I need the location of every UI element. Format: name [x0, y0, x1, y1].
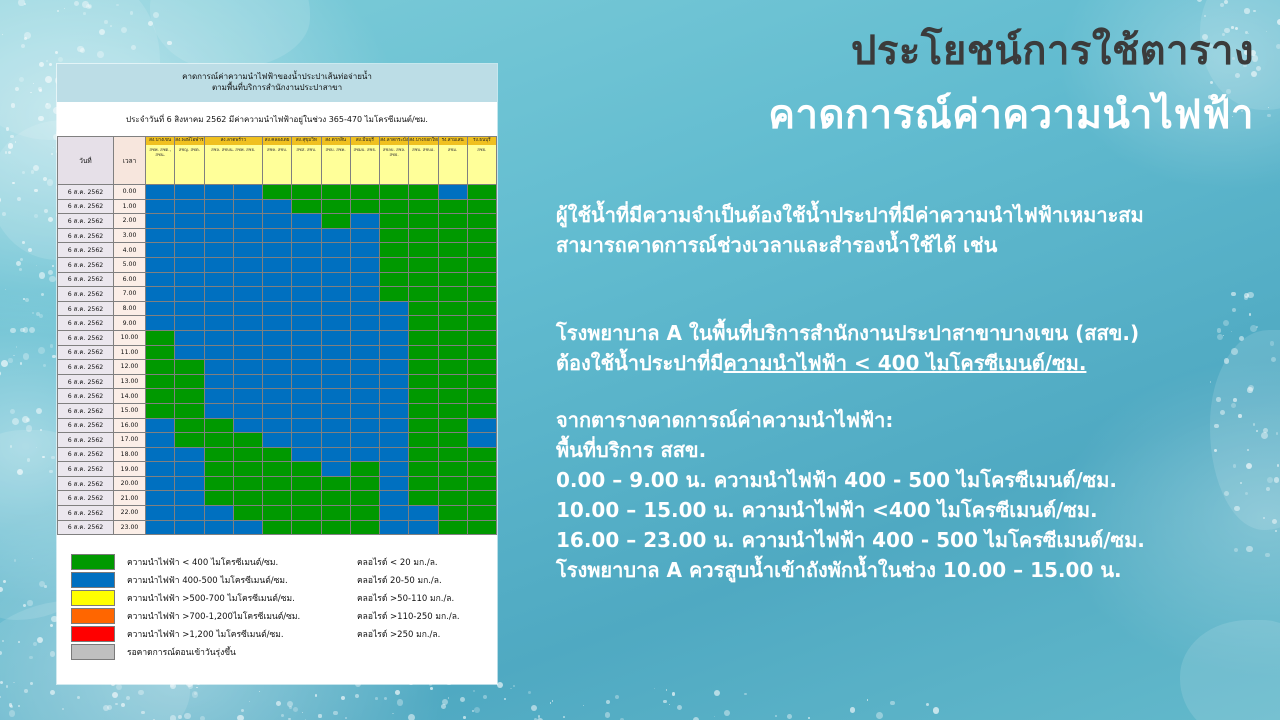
- cell-date: 6 ส.ค. 2562: [58, 330, 114, 345]
- speckle-dot: [50, 624, 53, 627]
- cell-time: 20.00: [114, 476, 146, 491]
- speckle-dot: [46, 60, 47, 61]
- cell-status-r8-c3: [233, 301, 262, 316]
- cell-status-r18-c1: [175, 447, 204, 462]
- speckle-dot: [88, 5, 92, 9]
- cell-status-r8-c0: [146, 301, 175, 316]
- cell-status-r9-c0: [146, 316, 175, 331]
- cell-status-r6-c1: [175, 272, 204, 287]
- speckle-dot: [29, 656, 32, 659]
- cell-status-r21-c10: [438, 491, 467, 506]
- cell-status-r9-c1: [175, 316, 204, 331]
- speckle-dot: [50, 344, 54, 348]
- cell-date: 6 ส.ค. 2562: [58, 476, 114, 491]
- cell-status-r21-c3: [233, 491, 262, 506]
- legend-conductivity-label: ความนำไฟฟ้า >700-1,200ไมโครซีเมนต์/ซม.: [127, 609, 357, 623]
- speckle-dot: [1275, 530, 1277, 532]
- cell-status-r3-c8: [380, 228, 409, 243]
- cell-status-r11-c10: [438, 345, 467, 360]
- speckle-dot: [395, 690, 400, 695]
- cell-status-r22-c0: [146, 506, 175, 521]
- speckle-dot: [6, 685, 9, 688]
- table-row: 6 ส.ค. 256216.00: [58, 418, 497, 433]
- speckle-dot: [116, 4, 118, 6]
- panel-subtitle: ประจำวันที่ 6 สิงหาคม 2562 มีค่าความนำไฟ…: [57, 102, 497, 136]
- speckle-dot: [392, 713, 394, 715]
- speckle-dot: [293, 707, 299, 713]
- cell-status-r4-c9: [409, 243, 438, 258]
- cell-status-r14-c7: [350, 389, 379, 404]
- cell-time: 1.00: [114, 199, 146, 214]
- speckle-dot: [287, 701, 293, 707]
- table-row: 6 ส.ค. 256210.00: [58, 330, 497, 345]
- speckle-dot: [39, 314, 43, 318]
- cell-status-r6-c6: [321, 272, 350, 287]
- cell-status-r10-c3: [233, 330, 262, 345]
- cell-status-r11-c1: [175, 345, 204, 360]
- cell-status-r4-c10: [438, 243, 467, 258]
- speckle-dot: [375, 697, 378, 700]
- cell-status-r3-c4: [263, 228, 292, 243]
- cell-status-r13-c6: [321, 374, 350, 389]
- cell-status-r9-c4: [263, 316, 292, 331]
- speckle-dot: [528, 691, 531, 694]
- cell-status-r21-c6: [321, 491, 350, 506]
- speckle-dot: [16, 346, 18, 348]
- branch-sub: สชบ. สชบอ.: [409, 145, 437, 154]
- speckle-dot: [50, 651, 56, 657]
- cell-time: 4.00: [114, 243, 146, 258]
- branch-name: สง.บางเขน: [146, 137, 174, 145]
- cell-status-r17-c10: [438, 433, 467, 448]
- cell-status-r6-c10: [438, 272, 467, 287]
- cell-status-r18-c4: [263, 447, 292, 462]
- speckle-dot: [38, 87, 42, 91]
- cell-status-r23-c11: [467, 520, 496, 535]
- speckle-dot: [167, 41, 171, 45]
- cell-status-r21-c2: [204, 491, 233, 506]
- cell-status-r23-c0: [146, 520, 175, 535]
- intro-line-1: ผู้ใช้น้ำที่มีความจำเป็นต้องใช้น้ำประปาท…: [556, 200, 1144, 230]
- cell-status-r20-c8: [380, 476, 409, 491]
- speckle-dot: [77, 696, 80, 699]
- cell-status-r6-c2: [204, 272, 233, 287]
- speckle-dot: [48, 270, 53, 275]
- cell-date: 6 ส.ค. 2562: [58, 520, 114, 535]
- cell-status-r23-c2: [204, 520, 233, 535]
- speckle-dot: [26, 425, 33, 432]
- cell-time: 3.00: [114, 228, 146, 243]
- cell-status-r22-c3: [233, 506, 262, 521]
- table-row: 6 ส.ค. 25629.00: [58, 316, 497, 331]
- cell-status-r19-c0: [146, 462, 175, 477]
- legend-row-1: ความนำไฟฟ้า 400-500 ไมโครซีเมนต์/ซม.คลอไ…: [71, 571, 497, 589]
- table-row: 6 ส.ค. 256217.00: [58, 433, 497, 448]
- speckle-dot: [39, 62, 44, 67]
- speckle-dot: [1272, 519, 1277, 524]
- speckle-dot: [19, 77, 24, 82]
- header-branch-2: สง.ลาดพร้าวสชล. สชบน. สชพ. สชธ.: [204, 137, 263, 185]
- speckle-dot: [276, 701, 281, 706]
- speckle-dot: [13, 355, 14, 356]
- slide-title-dark: ประโยชน์การใช้ตาราง: [554, 18, 1254, 82]
- cell-status-r11-c0: [146, 345, 175, 360]
- cell-status-r19-c10: [438, 462, 467, 477]
- table-row: 6 ส.ค. 25626.00: [58, 272, 497, 287]
- cell-status-r10-c11: [467, 330, 496, 345]
- cell-status-r23-c3: [233, 520, 262, 535]
- legend-conductivity-label: รอคาดการณ์ตอนเข้าวันรุ่งขึ้น: [127, 645, 357, 659]
- cell-status-r13-c4: [263, 374, 292, 389]
- cell-status-r16-c5: [292, 418, 321, 433]
- speckle-dot: [9, 710, 15, 716]
- speckle-dot: [55, 51, 58, 54]
- speckle-dot: [10, 328, 16, 334]
- cell-status-r19-c7: [350, 462, 379, 477]
- cell-status-r6-c0: [146, 272, 175, 287]
- cell-status-r0-c7: [350, 185, 379, 200]
- cell-time: 21.00: [114, 491, 146, 506]
- table-row: 6 ส.ค. 25627.00: [58, 287, 497, 302]
- cell-status-r8-c9: [409, 301, 438, 316]
- speckle-dot: [497, 682, 504, 689]
- cell-date: 6 ส.ค. 2562: [58, 433, 114, 448]
- speckle-dot: [460, 697, 465, 702]
- panel-header-band: คาดการณ์ค่าความนำไฟฟ้าของน้ำประปาเส้นท่อ…: [57, 64, 497, 102]
- cell-status-r20-c1: [175, 476, 204, 491]
- speckle-dot: [121, 27, 127, 33]
- speckle-dot: [121, 703, 126, 708]
- speckle-dot: [442, 699, 448, 705]
- result-line-2: พื้นที่บริการ สสข.: [556, 435, 1145, 465]
- cell-status-r17-c2: [204, 433, 233, 448]
- speckle-dot: [36, 408, 42, 414]
- cell-status-r16-c6: [321, 418, 350, 433]
- speckle-dot: [36, 312, 40, 316]
- speckle-dot: [333, 711, 338, 716]
- cell-status-r22-c11: [467, 506, 496, 521]
- cell-status-r22-c2: [204, 506, 233, 521]
- legend-row-0: ความนำไฟฟ้า < 400 ไมโครซีเมนต์/ซม.คลอไรด…: [71, 553, 497, 571]
- speckle-dot: [107, 705, 112, 710]
- speckle-dot: [30, 682, 33, 685]
- speckle-dot: [1271, 357, 1276, 362]
- cell-status-r12-c9: [409, 360, 438, 375]
- cell-status-r21-c11: [467, 491, 496, 506]
- cell-status-r1-c1: [175, 199, 204, 214]
- cell-status-r0-c2: [204, 185, 233, 200]
- conductivity-forecast-table: วันที่ เวลา สง.บางเขนสชพ. สชต., สชน.สง.พ…: [57, 136, 497, 535]
- speckle-dot: [32, 558, 33, 559]
- cell-status-r11-c8: [380, 345, 409, 360]
- cell-status-r8-c8: [380, 301, 409, 316]
- cell-status-r5-c7: [350, 257, 379, 272]
- cell-status-r1-c3: [233, 199, 262, 214]
- cell-status-r19-c2: [204, 462, 233, 477]
- cell-status-r22-c9: [409, 506, 438, 521]
- branch-name: รง.สามเสน: [439, 137, 467, 145]
- speckle-dot: [0, 696, 1, 699]
- speckle-dot: [355, 694, 359, 698]
- cell-time: 16.00: [114, 418, 146, 433]
- cell-status-r9-c8: [380, 316, 409, 331]
- branch-name: สง.บางกอกใหญ่: [409, 137, 437, 145]
- cell-status-r17-c5: [292, 433, 321, 448]
- table-row: 6 ส.ค. 25620.00: [58, 185, 497, 200]
- cell-status-r6-c9: [409, 272, 438, 287]
- table-row: 6 ส.ค. 256222.00: [58, 506, 497, 521]
- speckle-dot: [302, 712, 303, 713]
- cell-status-r23-c6: [321, 520, 350, 535]
- speckle-dot: [200, 716, 205, 720]
- speckle-dot: [49, 470, 53, 474]
- table-row: 6 ส.ค. 25621.00: [58, 199, 497, 214]
- speckle-dot: [44, 209, 48, 213]
- speckle-dot: [40, 429, 42, 431]
- result-line-6: โรงพยาบาล A ควรสูบน้ำเข้าถังพักน้ำในช่วง…: [556, 555, 1145, 585]
- table-row: 6 ส.ค. 256218.00: [58, 447, 497, 462]
- branch-sub: สชบ. สชค.: [322, 145, 350, 154]
- branch-sub: สชธ.: [468, 145, 496, 154]
- speckle-dot: [148, 21, 153, 26]
- cell-status-r2-c3: [233, 214, 262, 229]
- speckle-dot: [10, 705, 13, 708]
- cell-time: 23.00: [114, 520, 146, 535]
- speckle-dot: [1274, 477, 1279, 482]
- speckle-dot: [48, 217, 53, 222]
- speckle-dot: [11, 103, 15, 107]
- speckle-dot: [18, 0, 24, 6]
- speckle-dot: [15, 87, 19, 91]
- cell-status-r19-c1: [175, 462, 204, 477]
- cell-status-r21-c0: [146, 491, 175, 506]
- speckle-dot: [38, 347, 45, 354]
- speckle-dot: [24, 3, 26, 5]
- cell-status-r5-c4: [263, 257, 292, 272]
- cell-date: 6 ส.ค. 2562: [58, 214, 114, 229]
- speckle-dot: [41, 293, 44, 296]
- cell-status-r4-c4: [263, 243, 292, 258]
- speckle-dot: [18, 641, 20, 643]
- speckle-dot: [472, 710, 475, 713]
- cell-status-r2-c2: [204, 214, 233, 229]
- cell-status-r1-c8: [380, 199, 409, 214]
- cell-status-r16-c3: [233, 418, 262, 433]
- cell-status-r14-c3: [233, 389, 262, 404]
- speckle-dot: [184, 713, 191, 720]
- cell-status-r11-c4: [263, 345, 292, 360]
- speckle-dot: [29, 327, 35, 333]
- speckle-dot: [53, 147, 54, 148]
- cell-status-r0-c3: [233, 185, 262, 200]
- cell-status-r14-c1: [175, 389, 204, 404]
- cell-status-r12-c3: [233, 360, 262, 375]
- cell-status-r8-c5: [292, 301, 321, 316]
- table-row: 6 ส.ค. 256213.00: [58, 374, 497, 389]
- cell-status-r22-c5: [292, 506, 321, 521]
- speckle-dot: [1276, 44, 1280, 49]
- speckle-dot: [188, 683, 193, 688]
- cell-status-r13-c10: [438, 374, 467, 389]
- branch-sub: สชม.: [439, 145, 467, 154]
- speckle-dot: [31, 170, 34, 173]
- cell-time: 11.00: [114, 345, 146, 360]
- table-body: 6 ส.ค. 25620.006 ส.ค. 25621.006 ส.ค. 256…: [58, 185, 497, 535]
- cell-status-r0-c11: [467, 185, 496, 200]
- speckle-dot: [38, 116, 44, 122]
- cell-status-r12-c0: [146, 360, 175, 375]
- speckle-dot: [51, 456, 54, 459]
- speckle-dot: [50, 690, 55, 695]
- legend-chloride-label: คลอไรด์ >110-250 มก./ล.: [357, 609, 460, 623]
- cell-status-r7-c2: [204, 287, 233, 302]
- cell-status-r19-c9: [409, 462, 438, 477]
- legend-chloride-label: คลอไรด์ >250 มก./ล.: [357, 627, 440, 641]
- cell-status-r16-c7: [350, 418, 379, 433]
- cell-status-r5-c10: [438, 257, 467, 272]
- cell-status-r10-c0: [146, 330, 175, 345]
- cell-status-r23-c7: [350, 520, 379, 535]
- cell-status-r20-c9: [409, 476, 438, 491]
- speckle-dot: [8, 358, 12, 362]
- cell-status-r18-c5: [292, 447, 321, 462]
- cell-status-r13-c1: [175, 374, 204, 389]
- speckle-dot: [99, 29, 105, 35]
- cell-status-r1-c7: [350, 199, 379, 214]
- speckle-dot: [74, 1, 79, 6]
- cell-status-r17-c7: [350, 433, 379, 448]
- cell-status-r4-c11: [467, 243, 496, 258]
- speckle-dot: [0, 651, 2, 655]
- case-line-2-emphasis: ความนำไฟฟ้า < 400 ไมโครซีเมนต์/ซม.: [723, 351, 1086, 375]
- cell-status-r15-c6: [321, 403, 350, 418]
- header-branch-0: สง.บางเขนสชพ. สชต., สชน.: [146, 137, 175, 185]
- cell-status-r1-c10: [438, 199, 467, 214]
- speckle-dot: [483, 695, 487, 699]
- cell-status-r10-c1: [175, 330, 204, 345]
- table-head: วันที่ เวลา สง.บางเขนสชพ. สชต., สชน.สง.พ…: [58, 137, 497, 185]
- cell-status-r15-c5: [292, 403, 321, 418]
- legend-chloride-label: คลอไรด์ >50-110 มก./ล.: [357, 591, 454, 605]
- cell-status-r17-c11: [467, 433, 496, 448]
- panel-header-line-2: ตามพื้นที่บริการสำนักงานประปาสาขา: [212, 83, 342, 94]
- cell-status-r5-c2: [204, 257, 233, 272]
- result-line-1: จากตารางคาดการณ์ค่าความนำไฟฟ้า:: [556, 405, 1145, 435]
- speckle-dot: [397, 699, 404, 706]
- cell-status-r0-c5: [292, 185, 321, 200]
- table-row: 6 ส.ค. 25628.00: [58, 301, 497, 316]
- cell-status-r14-c8: [380, 389, 409, 404]
- speckle-dot: [47, 179, 53, 185]
- speckle-dot: [46, 103, 48, 105]
- speckle-dot: [237, 715, 243, 720]
- intro-block: ผู้ใช้น้ำที่มีความจำเป็นต้องใช้น้ำประปาท…: [556, 200, 1144, 260]
- speckle-dot: [77, 46, 83, 52]
- speckle-dot: [474, 707, 480, 713]
- speckle-dot: [33, 642, 37, 646]
- speckle-dot: [531, 705, 537, 711]
- cell-status-r20-c3: [233, 476, 262, 491]
- speckle-dot: [2, 34, 3, 35]
- cell-time: 5.00: [114, 257, 146, 272]
- speckle-dot: [17, 469, 23, 475]
- legend-swatch-yellow: [71, 590, 115, 606]
- speckle-dot: [408, 714, 415, 720]
- speckle-dot: [13, 682, 15, 684]
- cell-status-r2-c10: [438, 214, 467, 229]
- speckle-dot: [441, 704, 446, 709]
- legend-conductivity-label: ความนำไฟฟ้า 400-500 ไมโครซีเมนต์/ซม.: [127, 573, 357, 587]
- speckle-dot: [463, 716, 466, 719]
- speckle-dot: [36, 265, 37, 266]
- speckle-dot: [30, 92, 31, 93]
- speckle-dot: [20, 328, 24, 332]
- cell-time: 9.00: [114, 316, 146, 331]
- speckle-dot: [0, 197, 1, 203]
- cell-status-r10-c7: [350, 330, 379, 345]
- legend-swatch-orange: [71, 608, 115, 624]
- cell-status-r13-c2: [204, 374, 233, 389]
- cell-status-r2-c1: [175, 214, 204, 229]
- cell-date: 6 ส.ค. 2562: [58, 418, 114, 433]
- speckle-dot: [23, 327, 28, 332]
- cell-status-r12-c7: [350, 360, 379, 375]
- speckle-dot: [14, 559, 16, 561]
- cell-status-r20-c7: [350, 476, 379, 491]
- speckle-dot: [538, 715, 541, 718]
- cell-status-r4-c1: [175, 243, 204, 258]
- cell-status-r13-c8: [380, 374, 409, 389]
- cell-status-r10-c5: [292, 330, 321, 345]
- cell-status-r8-c2: [204, 301, 233, 316]
- table-row: 6 ส.ค. 256215.00: [58, 403, 497, 418]
- cell-time: 13.00: [114, 374, 146, 389]
- cell-status-r21-c8: [380, 491, 409, 506]
- speckle-dot: [33, 165, 39, 171]
- cell-status-r4-c3: [233, 243, 262, 258]
- speckle-dot: [289, 706, 292, 709]
- branch-sub: สชลบ. สชล. สชธ.: [380, 145, 408, 160]
- cell-status-r18-c2: [204, 447, 233, 462]
- cell-status-r4-c8: [380, 243, 409, 258]
- cell-status-r9-c7: [350, 316, 379, 331]
- speckle-dot: [45, 76, 52, 83]
- cell-status-r7-c7: [350, 287, 379, 302]
- cell-status-r7-c1: [175, 287, 204, 302]
- cell-status-r6-c3: [233, 272, 262, 287]
- cell-status-r3-c7: [350, 228, 379, 243]
- cell-status-r9-c3: [233, 316, 262, 331]
- cell-status-r18-c11: [467, 447, 496, 462]
- speckle-dot: [473, 690, 475, 692]
- speckle-dot: [103, 705, 109, 711]
- speckle-dot: [384, 697, 387, 700]
- speckle-dot: [315, 694, 318, 697]
- speckle-dot: [80, 48, 85, 53]
- speckle-dot: [0, 371, 1, 376]
- speckle-dot: [27, 458, 30, 461]
- speckle-dot: [130, 11, 134, 15]
- cell-status-r18-c9: [409, 447, 438, 462]
- branch-name: สง.ลาดพร้าว: [205, 137, 263, 145]
- speckle-dot: [34, 214, 38, 218]
- case-line-1: โรงพยาบาล A ในพื้นที่บริการสำนักงานประปา…: [556, 318, 1139, 348]
- cell-status-r7-c9: [409, 287, 438, 302]
- speckle-dot: [112, 692, 118, 698]
- speckle-dot: [10, 445, 12, 447]
- speckle-dot: [153, 12, 159, 18]
- speckle-dot: [510, 688, 512, 690]
